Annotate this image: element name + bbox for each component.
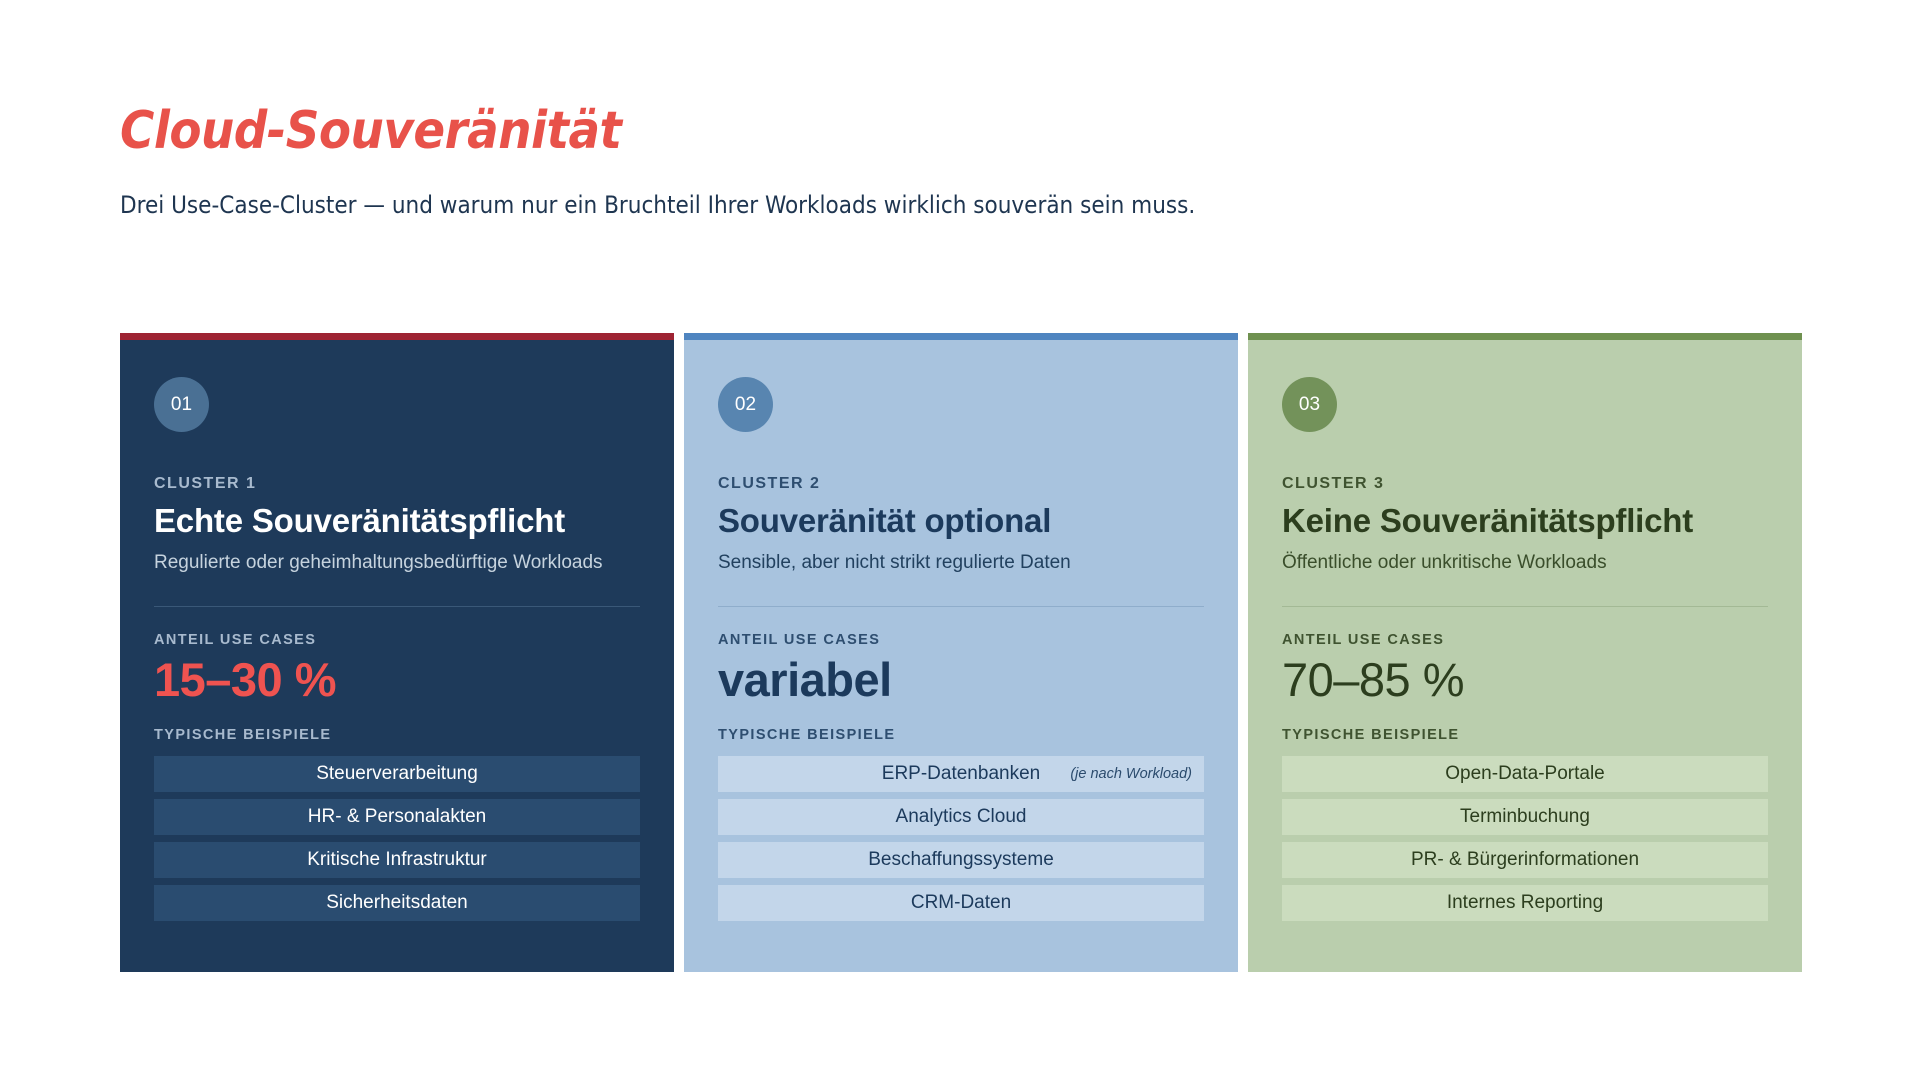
card-accent-bar	[1248, 333, 1802, 340]
list-item[interactable]: Steuerverarbeitung	[154, 756, 640, 792]
list-item[interactable]: CRM-Daten	[718, 885, 1204, 921]
card-stat-label: ANTEIL USE CASES	[154, 632, 640, 648]
slide-canvas: Cloud-Souveränität Drei Use-Case-Cluster…	[0, 0, 1920, 1080]
card-number-badge: 01	[154, 377, 209, 432]
list-item-label: Terminbuchung	[1460, 806, 1590, 828]
card-examples-list: Open-Data-Portale Terminbuchung PR- & Bü…	[1282, 756, 1768, 921]
list-item[interactable]: Kritische Infrastruktur	[154, 842, 640, 878]
card-title: Keine Souveränitätspflicht	[1282, 502, 1768, 540]
card-title: Echte Souveränitätspflicht	[154, 502, 640, 540]
list-item[interactable]: PR- & Bürgerinformationen	[1282, 842, 1768, 878]
card-stat-value: variabel	[718, 654, 1204, 706]
list-item-label: Beschaffungssysteme	[868, 849, 1054, 871]
card-accent-bar	[684, 333, 1238, 340]
list-item-label: Kritische Infrastruktur	[307, 849, 487, 871]
list-item-label: ERP-Datenbanken	[882, 763, 1040, 785]
cluster-card-3[interactable]: 03 CLUSTER 3 Keine Souveränitätspflicht …	[1248, 333, 1802, 972]
card-eyebrow: CLUSTER 1	[154, 475, 640, 493]
list-item[interactable]: Beschaffungssysteme	[718, 842, 1204, 878]
list-item[interactable]: Internes Reporting	[1282, 885, 1768, 921]
list-item-note: (je nach Workload)	[1070, 766, 1192, 782]
list-item-label: Internes Reporting	[1447, 892, 1603, 914]
card-eyebrow: CLUSTER 3	[1282, 475, 1768, 493]
card-examples-label: TYPISCHE BEISPIELE	[154, 727, 640, 743]
cluster-card-2[interactable]: 02 CLUSTER 2 Souveränität optional Sensi…	[684, 333, 1238, 972]
cluster-card-1[interactable]: 01 CLUSTER 1 Echte Souveränitätspflicht …	[120, 333, 674, 972]
card-stat-label: ANTEIL USE CASES	[1282, 632, 1768, 648]
card-examples-list: Steuerverarbeitung HR- & Personalakten K…	[154, 756, 640, 921]
list-item[interactable]: ERP-Datenbanken (je nach Workload)	[718, 756, 1204, 792]
list-item[interactable]: Analytics Cloud	[718, 799, 1204, 835]
card-accent-bar	[120, 333, 674, 340]
list-item-label: PR- & Bürgerinformationen	[1411, 849, 1639, 871]
slide-header: Cloud-Souveränität Drei Use-Case-Cluster…	[120, 104, 1820, 221]
card-divider	[154, 606, 640, 607]
card-eyebrow: CLUSTER 2	[718, 475, 1204, 493]
list-item-label: Open-Data-Portale	[1445, 763, 1604, 785]
card-divider	[1282, 606, 1768, 607]
list-item-label: HR- & Personalakten	[308, 806, 486, 828]
card-stat-value: 70–85 %	[1282, 654, 1768, 706]
list-item[interactable]: Open-Data-Portale	[1282, 756, 1768, 792]
card-number-badge: 03	[1282, 377, 1337, 432]
page-title: Cloud-Souveränität	[120, 104, 1820, 159]
card-stat-value: 15–30 %	[154, 654, 640, 706]
card-examples-list: ERP-Datenbanken (je nach Workload) Analy…	[718, 756, 1204, 921]
card-description: Regulierte oder geheimhaltungsbedürftige…	[154, 551, 640, 576]
list-item[interactable]: Terminbuchung	[1282, 799, 1768, 835]
list-item-label: Sicherheitsdaten	[326, 892, 468, 914]
page-subtitle: Drei Use-Case-Cluster — und warum nur ei…	[120, 189, 1820, 221]
card-title: Souveränität optional	[718, 502, 1204, 540]
card-examples-label: TYPISCHE BEISPIELE	[718, 727, 1204, 743]
cluster-cards-row: 01 CLUSTER 1 Echte Souveränitätspflicht …	[120, 333, 1802, 972]
card-description: Sensible, aber nicht strikt regulierte D…	[718, 551, 1204, 576]
card-examples-label: TYPISCHE BEISPIELE	[1282, 727, 1768, 743]
card-description: Öffentliche oder unkritische Workloads	[1282, 551, 1768, 576]
list-item-label: CRM-Daten	[911, 892, 1011, 914]
list-item[interactable]: HR- & Personalakten	[154, 799, 640, 835]
list-item-label: Analytics Cloud	[896, 806, 1027, 828]
card-number-badge: 02	[718, 377, 773, 432]
list-item[interactable]: Sicherheitsdaten	[154, 885, 640, 921]
card-stat-label: ANTEIL USE CASES	[718, 632, 1204, 648]
list-item-label: Steuerverarbeitung	[316, 763, 478, 785]
card-divider	[718, 606, 1204, 607]
